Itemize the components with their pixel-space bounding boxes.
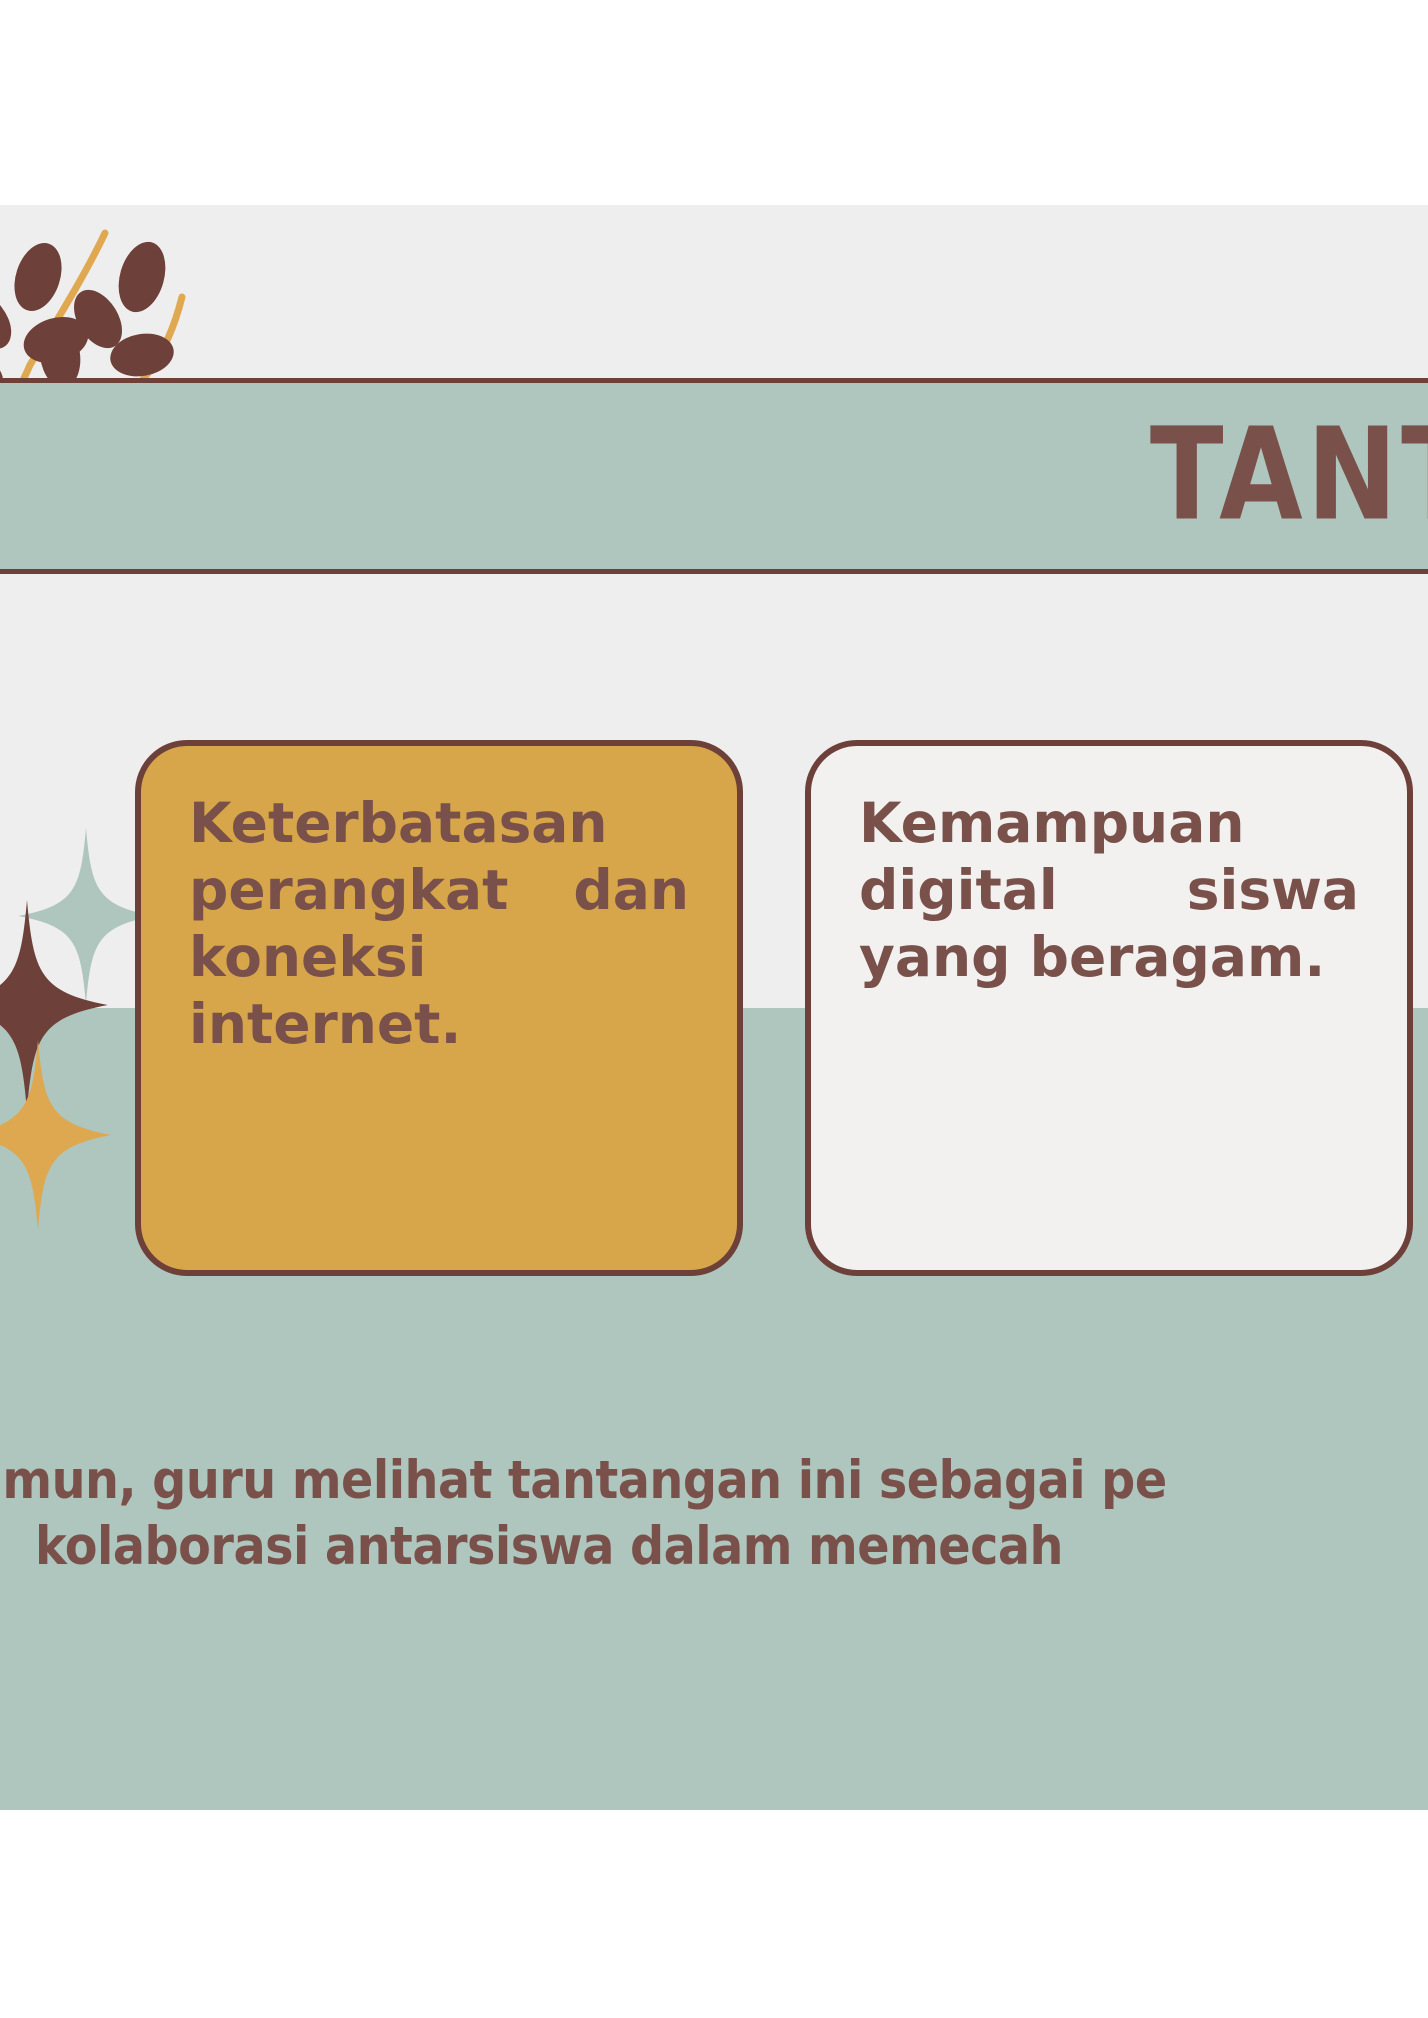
slide-canvas: TANTA Keterbatasan perangkat dan koneksi… [0, 0, 1428, 2018]
card-keterbatasan[interactable]: Keterbatasan perangkat dan koneksi inter… [135, 740, 743, 1276]
cards-row: Keterbatasan perangkat dan koneksi inter… [0, 740, 1428, 1276]
bottom-note-line-1: Namun, guru melihat tantangan ini sebaga… [0, 1448, 1428, 1514]
section-banner: TANTA [0, 378, 1428, 574]
bottom-note: Namun, guru melihat tantangan ini sebaga… [0, 1448, 1428, 1579]
card-keterbatasan-text: Keterbatasan perangkat dan koneksi inter… [189, 790, 689, 1058]
bottom-note-line-2: kolaborasi antarsiswa dalam memecah [0, 1514, 1428, 1580]
card-kemampuan[interactable]: Kemampuan digital siswa yang beragam. [805, 740, 1413, 1276]
page-title: TANTA [1150, 412, 1428, 539]
card-kemampuan-text: Kemampuan digital siswa yang beragam. [859, 790, 1359, 991]
